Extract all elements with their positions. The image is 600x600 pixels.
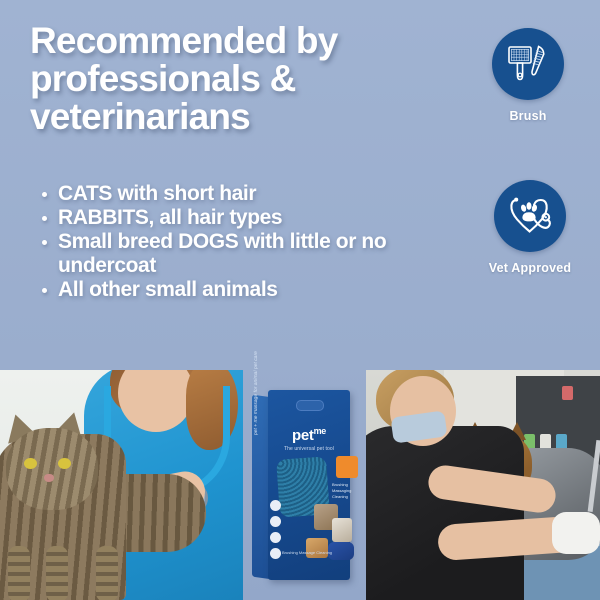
badge-disc bbox=[494, 180, 566, 252]
package-photo-dog bbox=[332, 518, 352, 542]
cat-head bbox=[6, 428, 98, 510]
page-title: Recommended by professionals & veterinar… bbox=[30, 22, 450, 136]
package-brand-suffix: me bbox=[314, 426, 326, 436]
package-brand-text: pet bbox=[292, 427, 314, 444]
badge-disc bbox=[492, 28, 564, 100]
package-icon-dot bbox=[270, 548, 281, 559]
groomer-glove bbox=[552, 512, 600, 554]
badge-vet-approved: Vet Approved bbox=[460, 180, 600, 275]
list-item: RABBITS, all hair types bbox=[36, 206, 436, 230]
package-icon-dot bbox=[270, 500, 281, 511]
photo-groomer-with-dog bbox=[366, 370, 600, 600]
cat-leg bbox=[46, 546, 68, 600]
cat-eye bbox=[58, 458, 71, 469]
badge-brush: Brush bbox=[468, 28, 588, 123]
cat-leg bbox=[96, 546, 118, 600]
list-item: All other small animals bbox=[36, 278, 436, 302]
photo-vet-with-cat bbox=[0, 370, 243, 600]
package-icon-dot bbox=[270, 516, 281, 527]
package-side-text: pet + me massage for animal pet care bbox=[253, 295, 259, 436]
package-badge bbox=[336, 456, 358, 478]
badge-label: Brush bbox=[468, 109, 588, 123]
groomer-shirt bbox=[366, 426, 524, 600]
cat-leg bbox=[8, 546, 30, 600]
package-icon-dot bbox=[270, 532, 281, 543]
stethoscope-heart-paw-icon bbox=[506, 194, 554, 238]
package-brand: petme bbox=[268, 426, 350, 444]
product-package: pet + me massage for animal pet care pet… bbox=[252, 382, 362, 587]
feature-list: CATS with short hair RABBITS, all hair t… bbox=[36, 182, 436, 302]
cat-nose bbox=[44, 474, 54, 482]
badge-label: Vet Approved bbox=[460, 261, 600, 275]
list-item: CATS with short hair bbox=[36, 182, 436, 206]
package-hang-hole bbox=[296, 400, 324, 411]
package-tagline: The universal pet tool bbox=[268, 446, 350, 452]
product-feature-poster: Recommended by professionals & veterinar… bbox=[0, 0, 600, 600]
package-features: Brushing Massaging Cleaning bbox=[332, 482, 354, 500]
brush-comb-icon bbox=[505, 41, 551, 87]
photo-strip: pet + me massage for animal pet care pet… bbox=[0, 370, 600, 600]
package-bottom-text: Brushing Massage Cleaning bbox=[282, 550, 342, 556]
cat-eye bbox=[24, 458, 37, 469]
list-item: Small breed DOGS with little or no under… bbox=[36, 230, 436, 278]
